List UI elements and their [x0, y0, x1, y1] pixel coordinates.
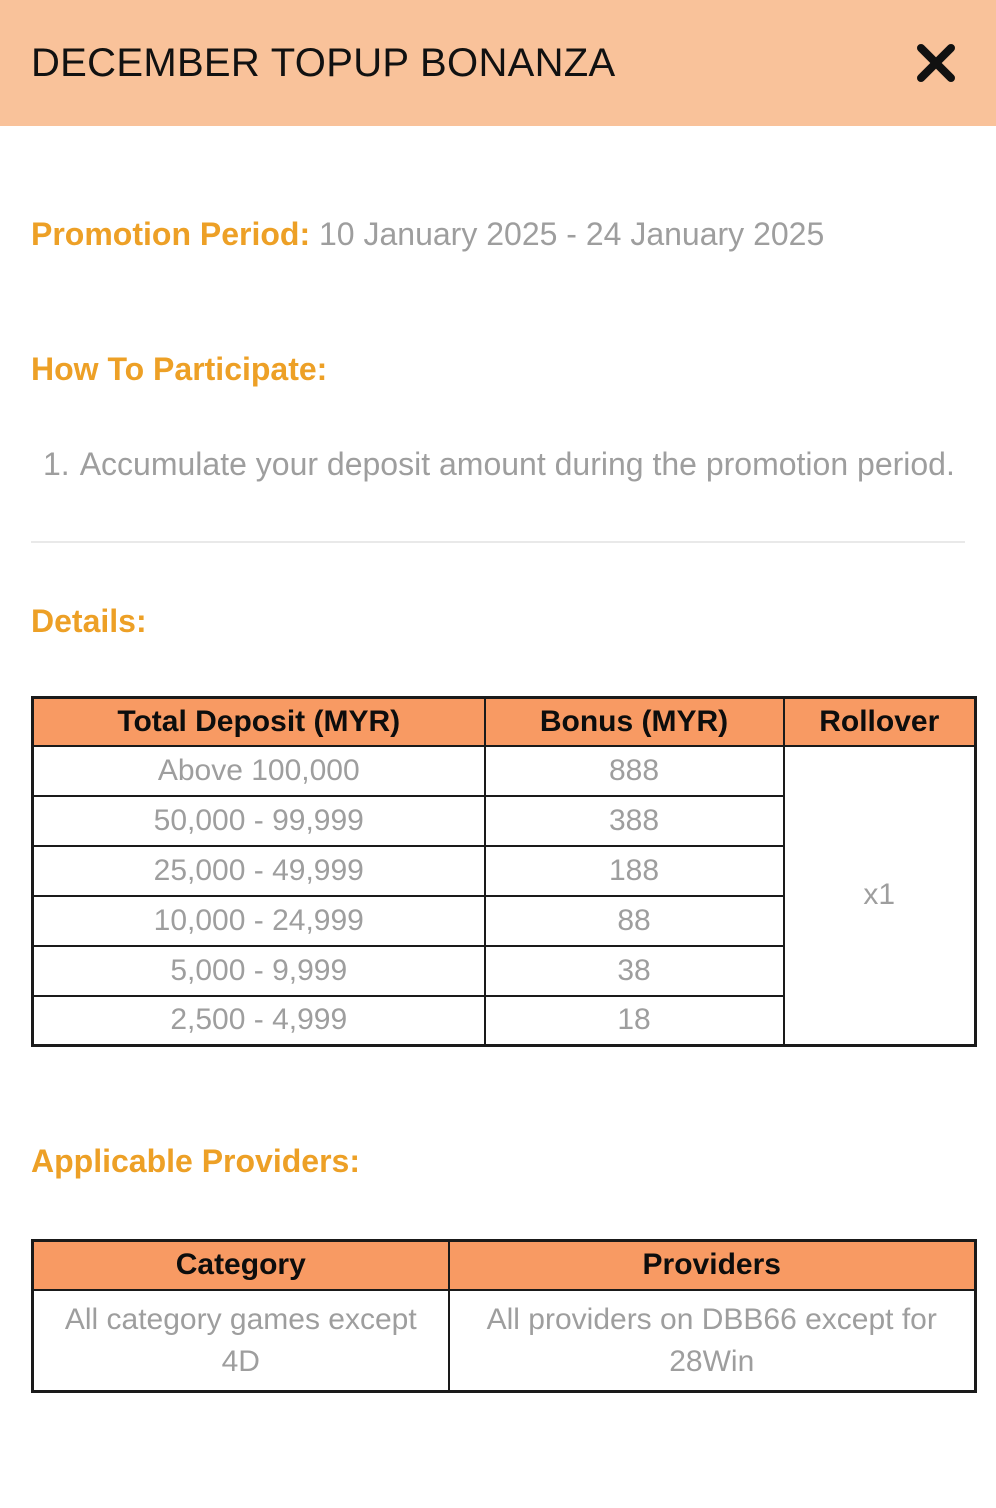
column-header-providers: Providers — [449, 1240, 976, 1290]
list-item-number: 1. — [43, 443, 70, 487]
cell-bonus: 188 — [485, 846, 784, 896]
providers-table: Category Providers All category games ex… — [31, 1239, 977, 1393]
close-button[interactable] — [904, 31, 968, 95]
applicable-providers-heading: Applicable Providers: — [31, 1141, 965, 1183]
cell-rollover: x1 — [784, 746, 976, 1046]
cell-bonus: 388 — [485, 796, 784, 846]
table-row: Above 100,000 888 x1 — [33, 746, 976, 796]
cell-deposit: Above 100,000 — [33, 746, 485, 796]
list-item-text: Accumulate your deposit amount during th… — [80, 443, 965, 487]
modal-header: DECEMBER TOPUP BONANZA — [0, 0, 996, 126]
how-to-participate-heading: How To Participate: — [31, 349, 965, 391]
details-block: Details: Total Deposit (MYR) Bonus (MYR)… — [31, 543, 965, 1048]
list-item: 1. Accumulate your deposit amount during… — [31, 443, 965, 487]
cell-deposit: 2,500 - 4,999 — [33, 996, 485, 1046]
cell-deposit: 10,000 - 24,999 — [33, 896, 485, 946]
cell-bonus: 88 — [485, 896, 784, 946]
cell-category: All category games except 4D — [33, 1290, 449, 1391]
column-header-rollover: Rollover — [784, 698, 976, 746]
table-row: All category games except 4D All provide… — [33, 1290, 976, 1391]
cell-bonus: 18 — [485, 996, 784, 1046]
how-to-participate-block: How To Participate: 1. Accumulate your d… — [31, 257, 965, 542]
promotion-period-line: Promotion Period: 10 January 2025 - 24 J… — [31, 212, 965, 257]
how-to-participate-list: 1. Accumulate your deposit amount during… — [31, 443, 965, 487]
table-header-row: Category Providers — [33, 1240, 976, 1290]
close-icon — [913, 40, 959, 86]
cell-bonus: 888 — [485, 746, 784, 796]
cell-deposit: 25,000 - 49,999 — [33, 846, 485, 896]
details-table: Total Deposit (MYR) Bonus (MYR) Rollover… — [31, 696, 977, 1047]
details-heading: Details: — [31, 601, 965, 643]
promotion-period-block: Promotion Period: 10 January 2025 - 24 J… — [31, 126, 965, 257]
promotion-modal: DECEMBER TOPUP BONANZA Promotion Period:… — [0, 0, 996, 1508]
page-title: DECEMBER TOPUP BONANZA — [31, 41, 616, 85]
modal-body: Promotion Period: 10 January 2025 - 24 J… — [0, 126, 996, 1393]
table-header-row: Total Deposit (MYR) Bonus (MYR) Rollover — [33, 698, 976, 746]
promotion-period-label: Promotion Period: — [31, 216, 310, 252]
column-header-category: Category — [33, 1240, 449, 1290]
cell-deposit: 50,000 - 99,999 — [33, 796, 485, 846]
column-header-bonus: Bonus (MYR) — [485, 698, 784, 746]
column-header-total-deposit: Total Deposit (MYR) — [33, 698, 485, 746]
promotion-period-value: 10 January 2025 - 24 January 2025 — [310, 216, 824, 252]
cell-providers: All providers on DBB66 except for 28Win — [449, 1290, 976, 1391]
cell-bonus: 38 — [485, 946, 784, 996]
applicable-providers-block: Applicable Providers: Category Providers… — [31, 1047, 965, 1393]
cell-deposit: 5,000 - 9,999 — [33, 946, 485, 996]
